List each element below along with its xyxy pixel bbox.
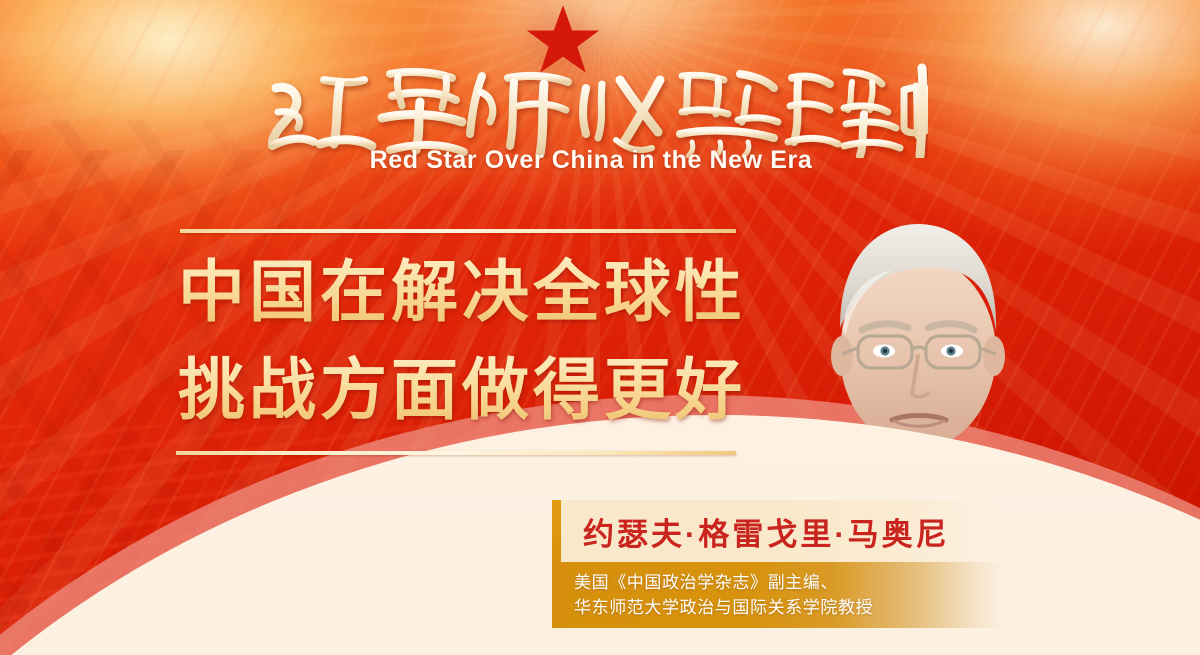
guest-credentials: 美国《中国政治学杂志》副主编、 华东师范大学政治与国际关系学院教授 xyxy=(552,570,873,620)
credentials-line-2: 华东师范大学政治与国际关系学院教授 xyxy=(574,595,873,620)
credentials-line-1: 美国《中国政治学杂志》副主编、 xyxy=(574,570,873,595)
poster-banner: Red Star Over China in the New Era 中国在解决… xyxy=(0,0,1200,655)
guest-name: 约瑟夫·格雷戈里·马奥尼 xyxy=(561,509,950,554)
guest-credentials-band: 美国《中国政治学杂志》副主编、 华东师范大学政治与国际关系学院教授 xyxy=(552,562,1004,628)
name-plate-accent-bar xyxy=(552,500,561,562)
guest-name-plate: 约瑟夫·格雷戈里·马奥尼 xyxy=(552,500,994,562)
